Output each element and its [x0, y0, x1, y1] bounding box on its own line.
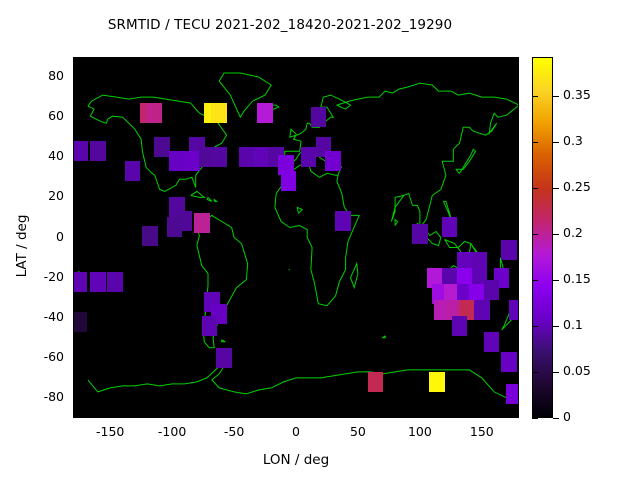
heatmap-cell — [484, 332, 500, 352]
x-axis-label: LON / deg — [0, 452, 592, 468]
x-tick-label: -50 — [224, 424, 244, 439]
x-tick-label: 150 — [470, 424, 494, 439]
colorbar-tick — [553, 142, 559, 143]
heatmap-cell — [301, 147, 317, 167]
chart-canvas: SRMTID / TECU 2021-202_18420-2021-202_19… — [0, 0, 640, 480]
heatmap-cell — [429, 372, 445, 392]
heatmap-cell — [281, 171, 297, 191]
heatmap-cell — [90, 141, 106, 161]
heatmap-cell — [216, 348, 232, 368]
heatmap-cell — [142, 226, 158, 246]
colorbar-tick — [553, 372, 559, 373]
x-tick-label: -150 — [96, 424, 124, 439]
colorbar-tick — [553, 418, 559, 419]
x-tick-label: 50 — [350, 424, 366, 439]
heatmap-cell — [154, 137, 170, 157]
colorbar-tick — [553, 234, 559, 235]
map-plot-area — [73, 57, 519, 418]
colorbar-gradient — [533, 58, 552, 417]
heatmap-cell — [73, 272, 87, 292]
heatmap-cell — [368, 372, 384, 392]
heatmap-cell — [73, 141, 88, 161]
colorbar-tick — [553, 326, 559, 327]
heatmap-cell — [442, 217, 458, 237]
colorbar-tick — [532, 234, 538, 235]
heatmap-cell — [506, 384, 519, 404]
heatmap-cell — [335, 211, 351, 231]
heatmap-cell — [146, 103, 162, 123]
heatmap-cell — [257, 103, 273, 123]
x-tick-label: 100 — [408, 424, 432, 439]
heatmap-cell — [254, 147, 270, 167]
x-tick-label: -100 — [158, 424, 186, 439]
colorbar — [532, 57, 553, 418]
colorbar-tick — [532, 372, 538, 373]
heatmap-cell — [474, 300, 490, 320]
heatmap-cell — [501, 240, 517, 260]
heatmap-cell — [509, 300, 519, 320]
colorbar-tick — [532, 96, 538, 97]
colorbar-tick — [532, 326, 538, 327]
x-tick-label: 0 — [292, 424, 300, 439]
y-axis-label: LAT / deg — [14, 146, 30, 346]
heatmap-cell — [211, 103, 227, 123]
colorbar-tick — [532, 188, 538, 189]
colorbar-tick — [553, 280, 559, 281]
heatmap-cell — [169, 151, 185, 171]
heatmap-cell — [239, 147, 255, 167]
heatmap-cell — [412, 224, 428, 244]
heatmap-cell — [107, 272, 123, 292]
heatmap-cell — [167, 217, 183, 237]
heatmap-cell — [73, 312, 87, 332]
colorbar-tick — [532, 280, 538, 281]
heatmap-cell — [484, 280, 500, 300]
heatmap-cell — [311, 107, 327, 127]
heatmap-cell — [194, 213, 210, 233]
colorbar-tick — [553, 96, 559, 97]
heatmap-cell — [501, 352, 517, 372]
heatmap-cell — [184, 151, 200, 171]
chart-title: SRMTID / TECU 2021-202_18420-2021-202_19… — [0, 17, 560, 33]
heatmap-cell — [202, 316, 218, 336]
heatmap-cells-layer — [73, 57, 519, 418]
colorbar-tick — [532, 418, 538, 419]
heatmap-cell — [125, 161, 141, 181]
colorbar-tick — [532, 142, 538, 143]
heatmap-cell — [90, 272, 106, 292]
heatmap-cell — [325, 151, 341, 171]
heatmap-cell — [211, 147, 227, 167]
heatmap-cell — [452, 316, 468, 336]
colorbar-tick — [553, 188, 559, 189]
